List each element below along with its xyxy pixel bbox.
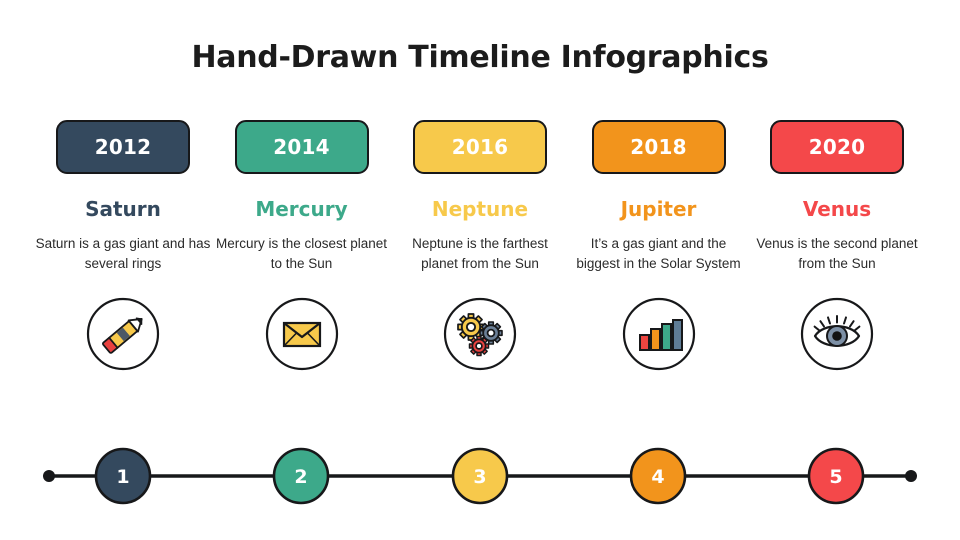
- timeline-column-4: 2018 Jupiter It’s a gas giant and the bi…: [570, 120, 748, 372]
- year-badge-1[interactable]: 2012: [56, 120, 190, 174]
- year-badge-label-3: 2016: [452, 137, 508, 157]
- timeline-columns: 2012 Saturn Saturn is a gas giant and ha…: [34, 120, 926, 372]
- planet-description-2: Mercury is the closest planet to the Sun: [214, 234, 390, 274]
- planet-description-1: Saturn is a gas giant and has several ri…: [35, 234, 211, 274]
- year-badge-4[interactable]: 2018: [592, 120, 726, 174]
- gears-icon: [442, 296, 518, 372]
- timeline-node-1: 1: [96, 449, 150, 503]
- planet-description-4: It’s a gas giant and the biggest in the …: [571, 234, 747, 274]
- planet-title-1: Saturn: [85, 199, 161, 219]
- year-badge-label-2: 2014: [273, 137, 329, 157]
- year-badge-3[interactable]: 2016: [413, 120, 547, 174]
- timeline-node-label-3: 3: [473, 466, 486, 488]
- timeline-node-label-5: 5: [829, 466, 842, 488]
- timeline-node-4: 4: [631, 449, 685, 503]
- year-badge-2[interactable]: 2014: [235, 120, 369, 174]
- timeline-column-3: 2016 Neptune Neptune is the farthest pla…: [391, 120, 569, 372]
- slide-canvas: Hand-Drawn Timeline Infographics 2012 Sa…: [0, 0, 960, 540]
- timeline-node-label-2: 2: [294, 466, 307, 488]
- planet-description-5: Venus is the second planet from the Sun: [749, 234, 925, 274]
- timeline-node-5: 5: [809, 449, 863, 503]
- planet-title-2: Mercury: [255, 199, 347, 219]
- bar-chart-icon: [621, 296, 697, 372]
- timeline-node-label-1: 1: [116, 466, 129, 488]
- timeline-node-3: 3: [453, 449, 507, 503]
- planet-description-3: Neptune is the farthest planet from the …: [392, 234, 568, 274]
- year-badge-label-1: 2012: [95, 137, 151, 157]
- year-badge-label-5: 2020: [809, 137, 865, 157]
- planet-title-5: Venus: [803, 199, 871, 219]
- envelope-icon: [264, 296, 340, 372]
- timeline-track: 1 2 3 4 5: [0, 440, 960, 515]
- page-title: Hand-Drawn Timeline Infographics: [0, 40, 960, 75]
- pencil-icon: [85, 296, 161, 372]
- timeline-column-5: 2020 Venus Venus is the second planet fr…: [748, 120, 926, 372]
- planet-title-3: Neptune: [432, 199, 528, 219]
- planet-title-4: Jupiter: [621, 199, 697, 219]
- year-badge-label-4: 2018: [630, 137, 686, 157]
- timeline-column-2: 2014 Mercury Mercury is the closest plan…: [213, 120, 391, 372]
- timeline-column-1: 2012 Saturn Saturn is a gas giant and ha…: [34, 120, 212, 372]
- timeline-node-2: 2: [274, 449, 328, 503]
- timeline-end-dot-right: [905, 470, 917, 482]
- timeline-node-label-4: 4: [651, 466, 664, 488]
- eye-icon: [799, 296, 875, 372]
- timeline-end-dot-left: [43, 470, 55, 482]
- year-badge-5[interactable]: 2020: [770, 120, 904, 174]
